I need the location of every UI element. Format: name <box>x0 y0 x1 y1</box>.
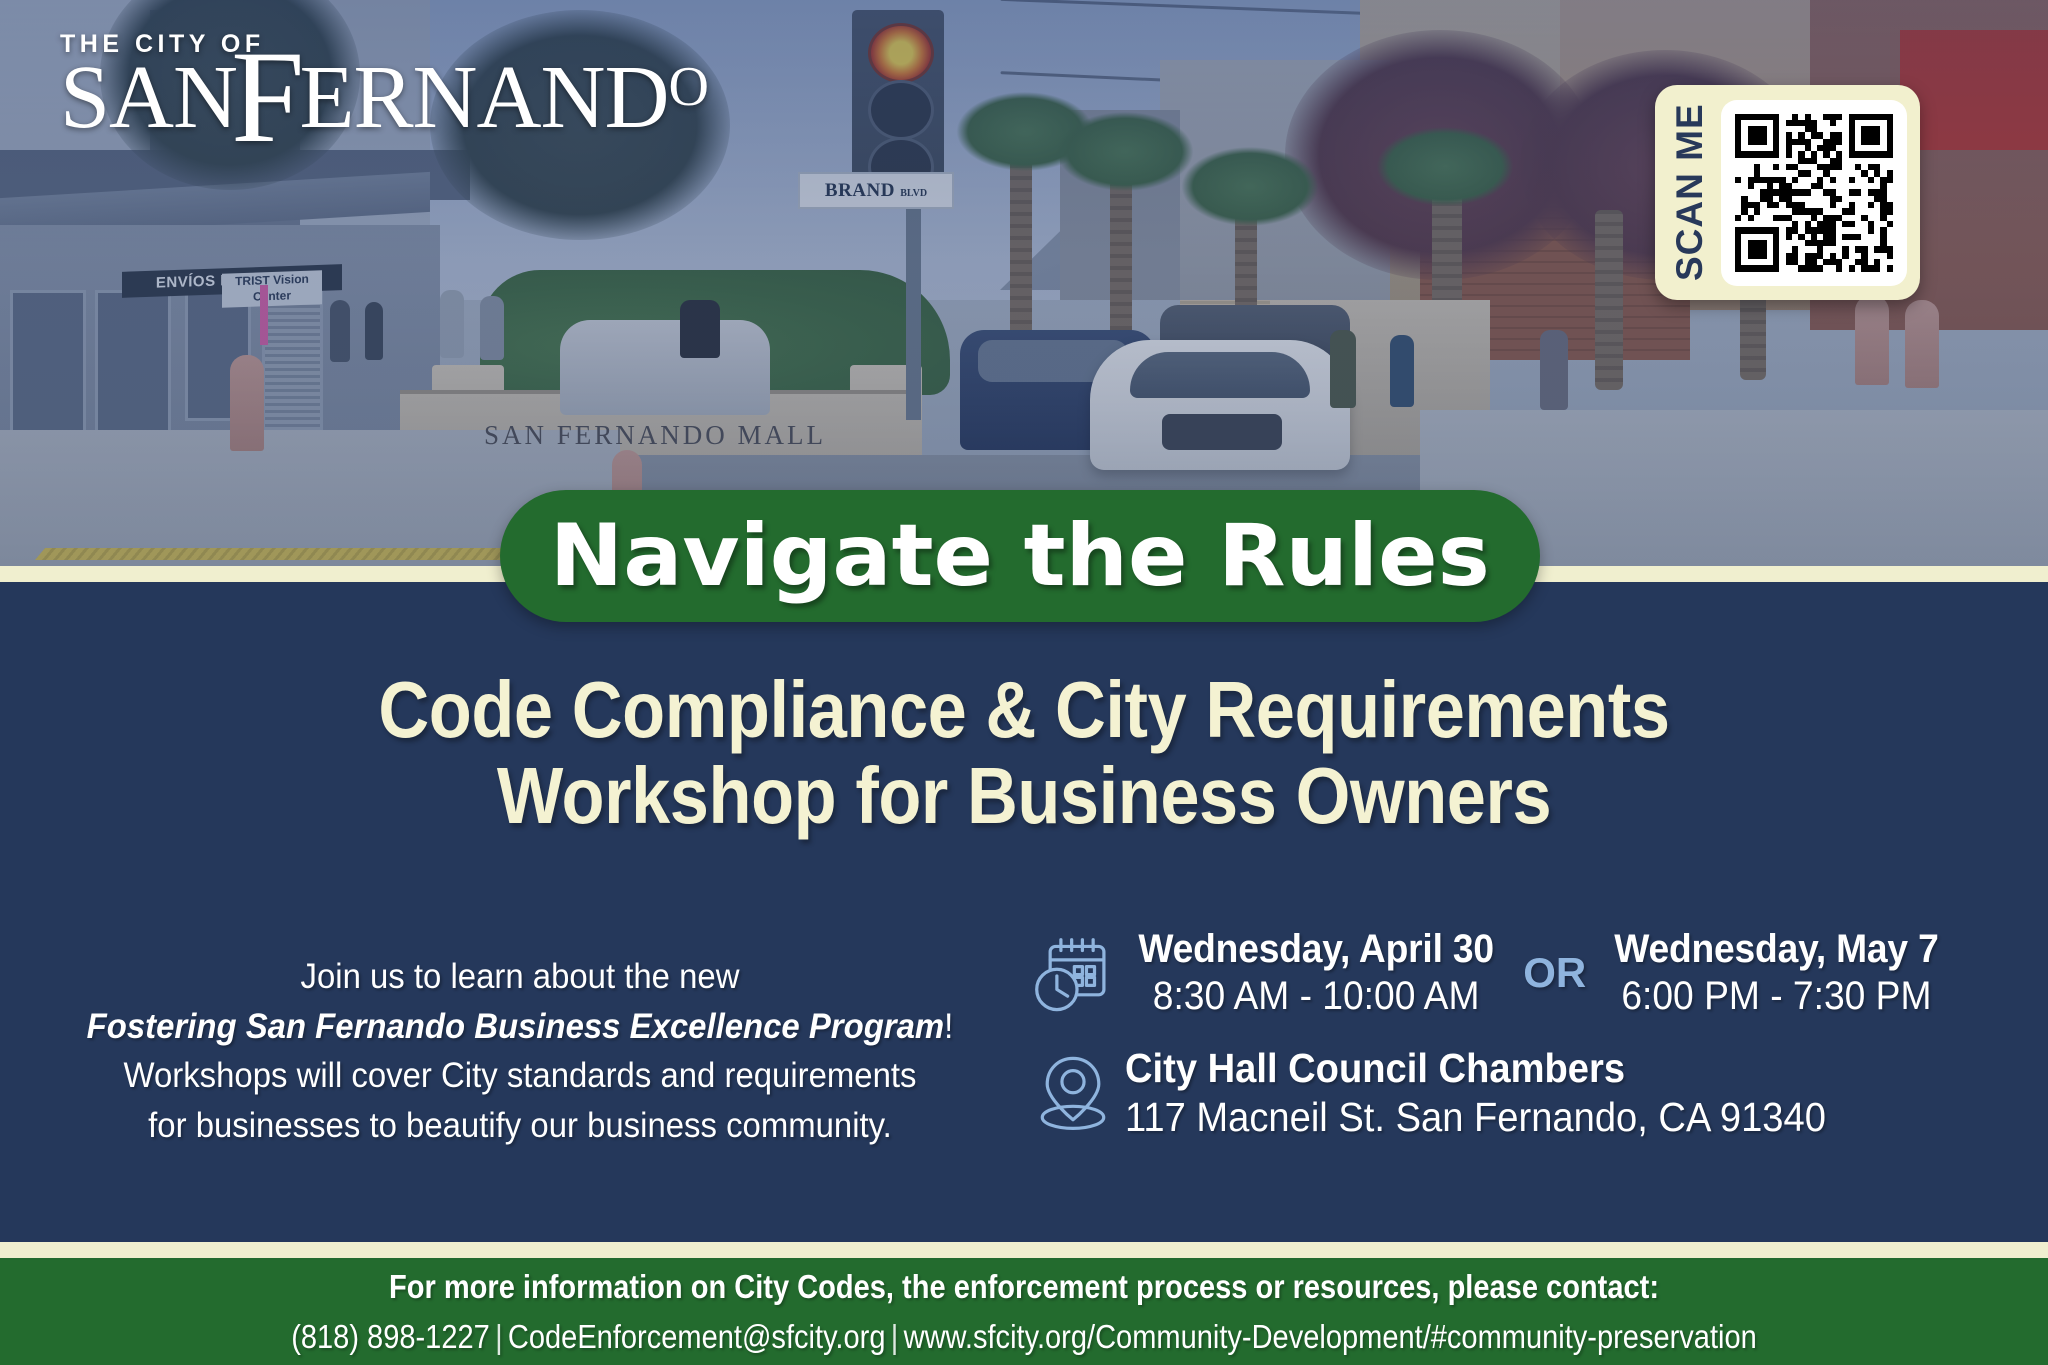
palm-trunk <box>1595 210 1623 390</box>
palm-fronds <box>1155 115 1345 245</box>
main-content: Code Compliance & City Requirements Work… <box>0 582 2048 1242</box>
yellow-curb-ramp <box>35 548 565 560</box>
footer-separator: | <box>885 1318 903 1355</box>
divider-band-bottom <box>0 1242 2048 1258</box>
store-window <box>95 290 171 436</box>
city-logo: THE CITY OF SANFERNANDO <box>60 30 708 141</box>
pedestrian <box>1330 330 1356 408</box>
footer-contact-line: (818) 898-1227|CodeEnforcement@sfcity.or… <box>123 1318 1925 1356</box>
venue-address: 117 Macneil St. San Fernando, CA 91340 <box>1125 1094 1826 1141</box>
palm-fronds <box>1350 95 1540 225</box>
bollard <box>1855 295 1889 385</box>
logo-san: SAN <box>60 48 237 147</box>
scan-me-label: SCAN ME <box>1669 100 1711 285</box>
footer-contact: For more information on City Codes, the … <box>0 1258 2048 1365</box>
banner-pill: Navigate the Rules <box>500 490 1540 622</box>
event-dates-row: Wednesday, April 30 8:30 AM - 10:00 AM O… <box>1020 927 2020 1019</box>
sessions-list: Wednesday, April 30 8:30 AM - 10:00 AM O… <box>1125 927 1951 1019</box>
session-2-date: Wednesday, May 7 <box>1614 927 1938 972</box>
session-1-time: 8:30 AM - 10:00 AM <box>1138 974 1494 1019</box>
mall-monument-text: SAN FERNANDO MALL <box>400 420 910 451</box>
session-1-date: Wednesday, April 30 <box>1138 927 1494 972</box>
storefront-sign-secondary: TRIST Vision Center <box>222 270 322 307</box>
car-silver <box>560 320 770 415</box>
page-title-line1: Code Compliance & City Requirements <box>123 667 1925 753</box>
traffic-light-red-lamp <box>868 23 934 83</box>
logo-ernand: ERNAND <box>299 48 668 147</box>
roll-gate <box>262 285 323 441</box>
page-title: Code Compliance & City Requirements Work… <box>123 667 1925 840</box>
venue-name: City Hall Council Chambers <box>1125 1045 1826 1092</box>
footer-separator: | <box>490 1318 508 1355</box>
footer-email[interactable]: CodeEnforcement@sfcity.org <box>508 1318 886 1355</box>
traffic-light-yellow-lamp <box>868 80 934 140</box>
description-line-1: Join us to learn about the new <box>69 952 971 1002</box>
banner-title: Navigate the Rules <box>550 506 1490 606</box>
street-sign-main: BRAND <box>825 180 895 201</box>
bollard <box>1905 300 1939 388</box>
pedestrian <box>365 302 383 360</box>
footer-headline: For more information on City Codes, the … <box>123 1268 1925 1306</box>
pedestrian <box>1390 335 1414 407</box>
flyer-page: ENVÍOS DE DINERO TRIST Vision Center SAN… <box>0 0 2048 1365</box>
awning-red <box>1900 30 2048 150</box>
bollard <box>230 355 264 451</box>
logo-wordmark: SANFERNANDO <box>60 55 708 141</box>
venue-info: City Hall Council Chambers 117 Macneil S… <box>1125 1045 1879 1141</box>
logo-o-glyph: O <box>668 56 707 118</box>
car-white-sedan <box>1090 340 1350 470</box>
description-program-line: Fostering San Fernando Business Excellen… <box>69 1002 971 1052</box>
page-title-line2: Workshop for Business Owners <box>123 753 1925 839</box>
event-details: Wednesday, April 30 8:30 AM - 10:00 AM O… <box>1020 927 2020 1141</box>
pedestrian <box>330 300 350 362</box>
pedestrian <box>1540 330 1568 410</box>
map-pin-icon <box>1020 1045 1125 1137</box>
event-location-row: City Hall Council Chambers 117 Macneil S… <box>1020 1045 2020 1141</box>
street-name-sign: BRAND BLVD <box>798 172 954 209</box>
or-separator: OR <box>1517 949 1592 997</box>
qr-scan-badge[interactable]: SCAN ME <box>1655 85 1920 300</box>
pedestrian <box>680 300 720 358</box>
qr-code-icon[interactable] <box>1721 100 1907 286</box>
program-suffix: ! <box>944 1007 953 1046</box>
street-sign-sub: BLVD <box>900 188 927 199</box>
description-block: Join us to learn about the new Fostering… <box>69 952 971 1151</box>
pedestrian <box>480 296 504 360</box>
program-name: Fostering San Fernando Business Excellen… <box>87 1007 945 1046</box>
pedestrian <box>440 290 464 358</box>
session-1: Wednesday, April 30 8:30 AM - 10:00 AM <box>1125 927 1507 1019</box>
logo-f-glyph: F <box>231 23 303 170</box>
description-line-4: for businesses to beautify our business … <box>69 1101 971 1151</box>
calendar-clock-icon <box>1020 927 1125 1019</box>
store-window <box>10 290 86 436</box>
qr-code-matrix <box>1735 114 1893 272</box>
description-line-3: Workshops will cover City standards and … <box>69 1051 971 1101</box>
footer-website[interactable]: www.sfcity.org/Community-Development/#co… <box>904 1318 1757 1355</box>
footer-phone[interactable]: (818) 898-1227 <box>291 1318 490 1355</box>
neon-strip <box>260 285 268 345</box>
session-2: Wednesday, May 7 6:00 PM - 7:30 PM <box>1602 927 1951 1019</box>
session-2-time: 6:00 PM - 7:30 PM <box>1614 974 1938 1019</box>
